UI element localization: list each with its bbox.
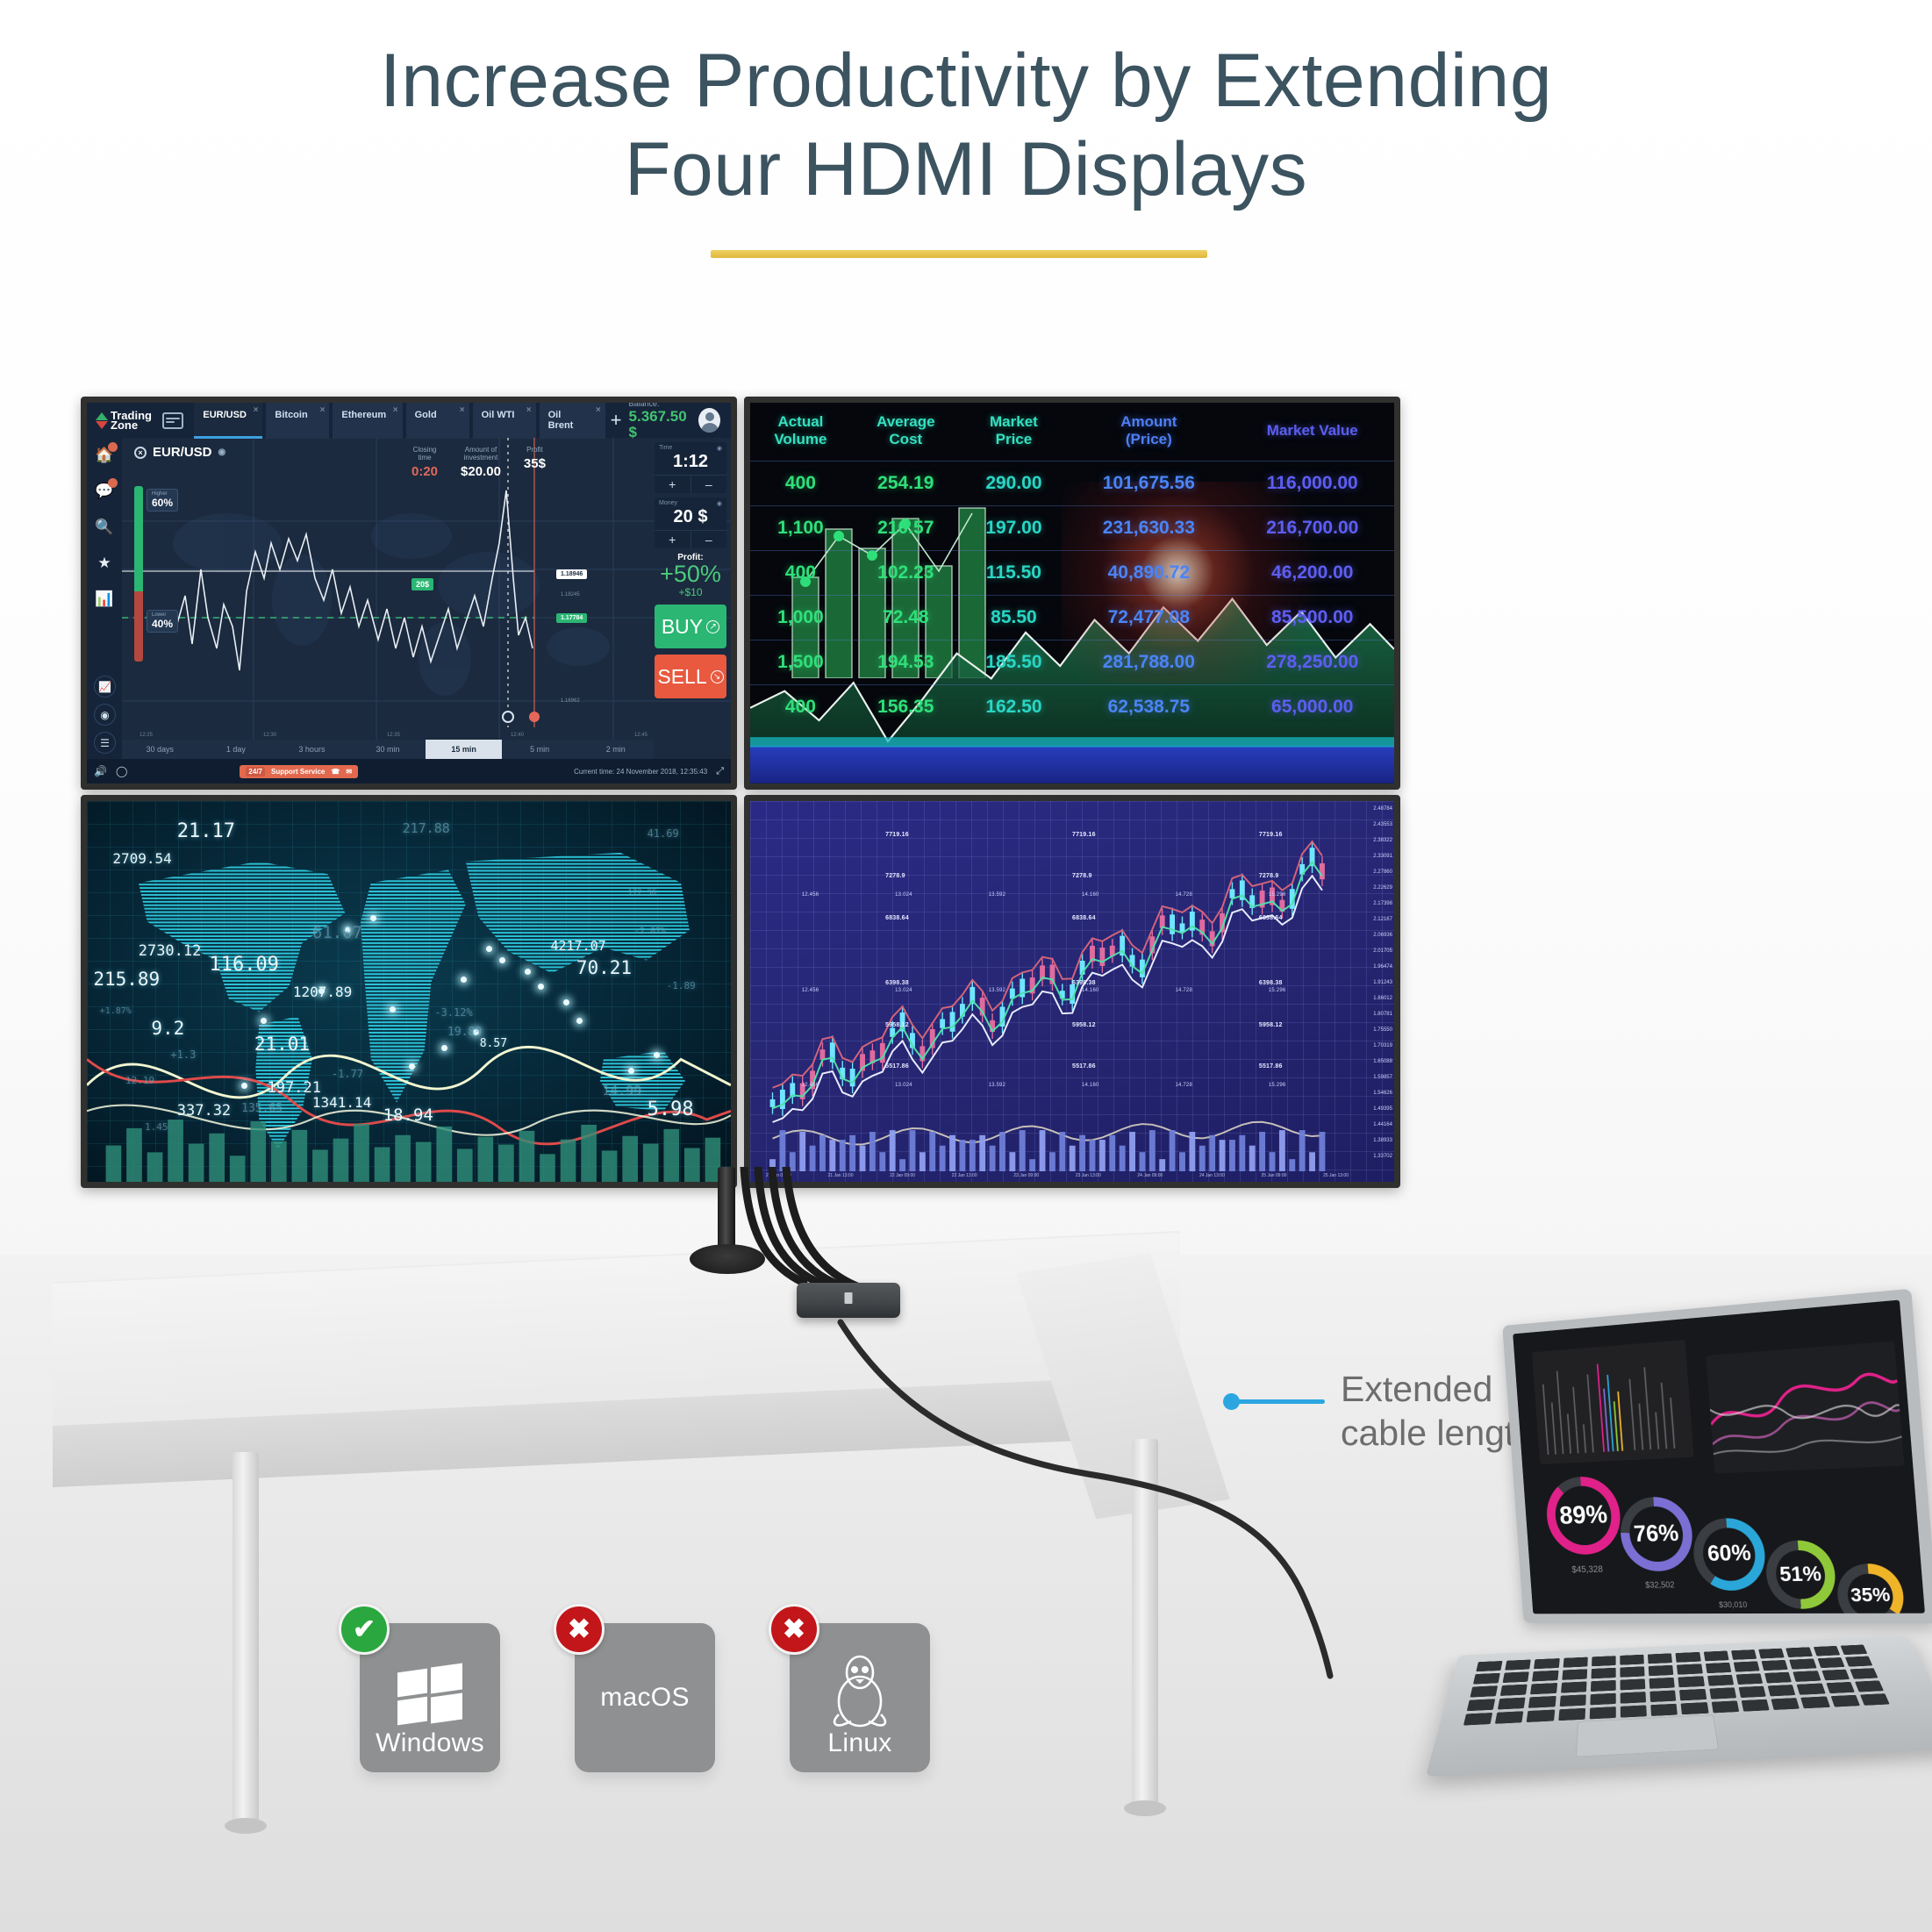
desk-foot-left bbox=[225, 1818, 267, 1834]
keyboard-key[interactable] bbox=[1676, 1652, 1701, 1663]
keyboard-key[interactable] bbox=[1855, 1680, 1884, 1692]
keyboard-key[interactable] bbox=[1621, 1678, 1646, 1690]
table-cell: 281,788.00 bbox=[1067, 640, 1230, 685]
profit-amount: +$10 bbox=[655, 586, 726, 598]
candles-volume-label: 15.296 bbox=[1269, 892, 1286, 898]
money-increase-button[interactable]: + bbox=[655, 531, 691, 548]
keyboard-key[interactable] bbox=[1534, 1658, 1559, 1669]
balance-value: 5.367.50 $ bbox=[629, 409, 692, 440]
map-value: 116.09 bbox=[209, 954, 278, 976]
table-cell: 85.50 bbox=[961, 596, 1067, 640]
close-icon[interactable]: × bbox=[393, 405, 398, 415]
table-cell: 62,538.75 bbox=[1067, 685, 1230, 730]
keyboard-key[interactable] bbox=[1650, 1690, 1677, 1702]
map-value: 337.32 bbox=[177, 1102, 231, 1120]
linux-penguin-icon bbox=[828, 1653, 891, 1728]
candles-time-tick: 25 Jan 13:00 bbox=[1323, 1173, 1349, 1178]
gauge-lower-value: 40% bbox=[152, 618, 173, 630]
profit-value: 35$ bbox=[524, 456, 546, 471]
keyboard-key[interactable] bbox=[1850, 1668, 1878, 1679]
candles-time-tick: 23 Jan 09:00 bbox=[1013, 1173, 1039, 1178]
add-tab-button[interactable]: + bbox=[611, 409, 622, 432]
keyboard-key[interactable] bbox=[1592, 1656, 1616, 1666]
table-cell: 116,000.00 bbox=[1231, 462, 1394, 506]
time-tick: 12:35 bbox=[387, 733, 400, 738]
column-actual-volume: ActualVolume bbox=[750, 403, 851, 462]
gauge-51: 51% bbox=[1764, 1540, 1837, 1609]
map-value: 70.21 bbox=[576, 957, 632, 978]
candles-axis-tick: 2.33091 bbox=[1373, 854, 1392, 859]
candles-volume-label: 13.024 bbox=[895, 988, 912, 993]
axis-price-2: 1.18245 bbox=[561, 592, 580, 597]
gauge-percent: 60% bbox=[1707, 1541, 1752, 1567]
balance-area: + Balance: 5.367.50 $ bbox=[611, 403, 726, 440]
map-dot bbox=[525, 969, 531, 975]
close-icon[interactable]: × bbox=[596, 405, 601, 415]
keyboard-key[interactable] bbox=[1505, 1659, 1531, 1670]
tab-bitcoin[interactable]: Bitcoin× bbox=[266, 403, 329, 439]
keyboard-key[interactable] bbox=[1532, 1671, 1558, 1682]
column-market-price: MarketPrice bbox=[961, 403, 1067, 462]
tab-oil-wti[interactable]: Oil WTI× bbox=[473, 403, 536, 439]
gauge-percent: 35% bbox=[1850, 1585, 1891, 1606]
sell-button[interactable]: SELL↘ bbox=[655, 655, 726, 698]
headline-line-2: Four HDMI Displays bbox=[0, 125, 1932, 214]
keyboard-key[interactable] bbox=[1758, 1649, 1785, 1659]
volume-icon[interactable]: 🔊 bbox=[94, 765, 107, 777]
time-tick: 12:40 bbox=[511, 733, 524, 738]
layout-menu-icon[interactable] bbox=[162, 412, 183, 429]
gauge-lower: Lower 40% bbox=[147, 610, 178, 633]
candles-axis-tick: 2.43553 bbox=[1373, 822, 1392, 827]
keyboard-key[interactable] bbox=[1709, 1687, 1736, 1699]
candles-time-tick: 23 Jan 13:00 bbox=[1076, 1173, 1101, 1178]
money-value: 20 $ bbox=[655, 507, 726, 530]
os-compatibility-row: ✔ Windows ✖ macOS ✖ Linux bbox=[360, 1623, 930, 1772]
candles-axis-tick: 1.75550 bbox=[1373, 1027, 1392, 1033]
candles-price-label: 5517.86 bbox=[1259, 1063, 1283, 1070]
column-amount-price: Amount(Price) bbox=[1067, 403, 1230, 462]
candles-axis-tick: 2.22629 bbox=[1373, 885, 1392, 891]
closing-time-block: Closingtime 0:20 bbox=[411, 446, 438, 479]
keyboard-key[interactable] bbox=[1801, 1696, 1830, 1708]
map-dot bbox=[563, 999, 569, 1005]
map-value: -1.89 bbox=[667, 980, 696, 991]
candles-price-label: 5958.12 bbox=[885, 1022, 909, 1028]
candles-volume-label: 13.024 bbox=[895, 1083, 912, 1088]
keyboard-key[interactable] bbox=[1498, 1698, 1526, 1710]
keyboard-key[interactable] bbox=[1826, 1682, 1855, 1693]
table-cell: 216,700.00 bbox=[1231, 506, 1394, 551]
laptop-screen: 89%$45,32876%$32,50260%$30,01051%$24,003… bbox=[1513, 1300, 1925, 1614]
keyboard-key[interactable] bbox=[1707, 1675, 1734, 1686]
keyboard-key[interactable] bbox=[1762, 1660, 1788, 1671]
buy-label: BUY bbox=[662, 615, 703, 639]
table-cell: 400 bbox=[750, 462, 851, 506]
keyboard-key[interactable] bbox=[1711, 1700, 1739, 1713]
desk-leg-left bbox=[233, 1452, 259, 1829]
time-value: 1:12 bbox=[655, 452, 726, 475]
keyboard-key[interactable] bbox=[1590, 1707, 1616, 1719]
map-dot bbox=[441, 1045, 447, 1051]
time-label: Time bbox=[659, 445, 672, 452]
timeframe-30-min[interactable]: 30 min bbox=[350, 740, 426, 759]
candles-volume-label: 12.456 bbox=[802, 1083, 819, 1088]
tab-eurusd[interactable]: EUR/USD× bbox=[194, 403, 262, 439]
candles-axis-tick: 2.06936 bbox=[1373, 933, 1392, 938]
map-value: +1.3 bbox=[170, 1048, 196, 1061]
keyboard-key[interactable] bbox=[1817, 1657, 1844, 1668]
check-icon: ✔ bbox=[339, 1604, 390, 1655]
keyboard-key[interactable] bbox=[1830, 1695, 1860, 1707]
map-dot bbox=[628, 1068, 634, 1074]
phone-icon[interactable]: ☎ bbox=[331, 768, 340, 776]
keyboard-key[interactable] bbox=[1561, 1681, 1587, 1692]
candles-volume-label: 12.456 bbox=[802, 988, 819, 993]
candles-volume-label: 14.728 bbox=[1175, 892, 1192, 898]
map-value: -3.12% bbox=[434, 1006, 472, 1019]
candles-price-label: 7719.16 bbox=[1259, 832, 1283, 838]
candles-axis-tick: 2.12167 bbox=[1373, 917, 1392, 922]
candles-price-label: 5958.12 bbox=[1259, 1022, 1283, 1028]
headline-line-1: Increase Productivity by Extending bbox=[0, 37, 1932, 125]
gauge-center: 35% bbox=[1846, 1573, 1894, 1614]
price-tag-amount: 20$ bbox=[411, 578, 433, 590]
profit-percent: +50% bbox=[655, 562, 726, 586]
candles-volume-label: 15.296 bbox=[1269, 1083, 1286, 1088]
close-icon[interactable]: × bbox=[134, 447, 147, 459]
candles-time-tick: 24 Jan 09:00 bbox=[1137, 1173, 1163, 1178]
table-cell: 101,675.56 bbox=[1067, 462, 1230, 506]
keyboard-key[interactable] bbox=[1821, 1670, 1850, 1681]
keyboard-key[interactable] bbox=[1679, 1689, 1707, 1701]
price-tag-strike: 1.17784 bbox=[556, 613, 587, 623]
timeframe-2-min[interactable]: 2 min bbox=[577, 740, 654, 759]
table-cell: 197.00 bbox=[961, 506, 1067, 551]
tab-gold[interactable]: Gold× bbox=[406, 403, 469, 439]
keyboard-key[interactable] bbox=[1563, 1657, 1587, 1668]
map-value: 9.2 bbox=[151, 1018, 184, 1039]
keyboard-key[interactable] bbox=[1527, 1710, 1555, 1722]
map-value: -2.87% bbox=[634, 927, 666, 936]
keyboard-key[interactable] bbox=[1771, 1698, 1800, 1710]
gauge-60: 60% bbox=[1692, 1517, 1768, 1591]
gauge-amount: $30,010 bbox=[1698, 1600, 1770, 1609]
keyboard-key[interactable] bbox=[1736, 1673, 1764, 1685]
keyboard-key[interactable] bbox=[1785, 1647, 1812, 1657]
gauge-amount: $45,328 bbox=[1550, 1563, 1624, 1575]
os-card-macos: ✖ macOS bbox=[575, 1623, 715, 1772]
keyboard-key[interactable] bbox=[1591, 1680, 1616, 1692]
keyboard-key[interactable] bbox=[1590, 1693, 1616, 1706]
keyboard-key[interactable] bbox=[1500, 1685, 1528, 1696]
keyboard-key[interactable] bbox=[1814, 1646, 1841, 1657]
laptop-lid: 89%$45,32876%$32,50260%$30,01051%$24,003… bbox=[1502, 1289, 1932, 1624]
table-cell: 102.23 bbox=[851, 551, 961, 596]
buy-button[interactable]: BUY↗ bbox=[655, 605, 726, 648]
keyboard-key[interactable] bbox=[1470, 1685, 1498, 1697]
chat-icon[interactable]: 💬 bbox=[94, 481, 115, 502]
table-row: 400102.23115.5040,890.7246,200.00 bbox=[750, 551, 1394, 596]
candles-axis-tick: 1.96474 bbox=[1373, 964, 1392, 970]
list-icon[interactable]: ☰ bbox=[94, 732, 116, 754]
map-value: 61.07 bbox=[312, 923, 362, 942]
table-cell: 400 bbox=[750, 685, 851, 730]
monitor-portfolio-table: ActualVolume AverageCost MarketPrice Amo… bbox=[744, 397, 1400, 790]
home-icon[interactable]: 🏠 bbox=[94, 445, 115, 466]
keyboard-key[interactable] bbox=[1706, 1663, 1732, 1673]
map-value: 8.57 bbox=[480, 1037, 507, 1050]
trading-screen: Trading Zone EUR/USD× Bitcoin× Ethereum×… bbox=[87, 403, 731, 784]
candles-axis-tick: 1.49395 bbox=[1373, 1106, 1392, 1112]
keyboard-key[interactable] bbox=[1845, 1657, 1873, 1667]
keyboard-key[interactable] bbox=[1648, 1653, 1672, 1664]
trading-toolbar: Trading Zone EUR/USD× Bitcoin× Ethereum×… bbox=[87, 403, 731, 438]
close-icon[interactable]: × bbox=[460, 405, 465, 415]
keyboard-key[interactable] bbox=[1621, 1705, 1647, 1717]
keyboard-key[interactable] bbox=[1473, 1673, 1500, 1685]
gauge-35: 35% bbox=[1835, 1563, 1907, 1614]
candles-time-tick: 25 Jan 09:00 bbox=[1262, 1173, 1287, 1178]
keyboard-key[interactable] bbox=[1503, 1671, 1529, 1683]
product-scene: Increase Productivity by Extending Four … bbox=[0, 0, 1932, 1932]
candles-axis-tick: 1.33702 bbox=[1373, 1154, 1392, 1159]
settings-icon[interactable]: ◉ bbox=[218, 447, 226, 457]
time-decrease-button[interactable]: – bbox=[691, 476, 727, 493]
time-tick: 12:30 bbox=[263, 733, 276, 738]
closing-time-value: 0:20 bbox=[411, 464, 438, 479]
desk-foot-right bbox=[1124, 1800, 1166, 1816]
laptop-trackpad[interactable] bbox=[1576, 1714, 1719, 1757]
money-label: Money bbox=[659, 500, 677, 507]
candles-volume-label: 13.592 bbox=[989, 988, 1006, 993]
avatar[interactable] bbox=[698, 408, 720, 433]
keyboard-key[interactable] bbox=[1681, 1702, 1708, 1714]
table-cell: 156.35 bbox=[851, 685, 961, 730]
keyboard-key[interactable] bbox=[1476, 1661, 1502, 1671]
keyboard-key[interactable] bbox=[1734, 1661, 1760, 1671]
time-selector[interactable]: Time◉ 1:12 +– bbox=[655, 442, 726, 493]
keyboard-key[interactable] bbox=[1651, 1704, 1678, 1716]
map-value: 21.01 bbox=[254, 1034, 310, 1055]
table-cell: 162.50 bbox=[961, 685, 1067, 730]
tab-label: Oil WTI bbox=[482, 410, 515, 420]
logo-triangles-icon bbox=[96, 412, 108, 429]
table-cell: 1,100 bbox=[750, 506, 851, 551]
map-value: 217.88 bbox=[403, 820, 450, 836]
candles-axis-tick: 1.86012 bbox=[1373, 996, 1392, 1001]
time-axis: 12:25 12:30 12:35 12:40 12:45 bbox=[140, 733, 648, 738]
candles-price-label: 7278.9 bbox=[1072, 873, 1092, 879]
investment-value: $20.00 bbox=[461, 464, 501, 479]
candles-axis-tick: 2.17398 bbox=[1373, 901, 1392, 906]
map-value: 172.36 bbox=[628, 889, 657, 898]
keyboard-key[interactable] bbox=[1649, 1678, 1675, 1689]
table-header-row: ActualVolume AverageCost MarketPrice Amo… bbox=[750, 403, 1394, 462]
map-value: 2709.54 bbox=[112, 850, 171, 867]
candles-screen: 7719.167278.96838.646398.385958.125517.8… bbox=[750, 801, 1394, 1182]
search-icon[interactable]: 🔍 bbox=[94, 517, 115, 538]
line-chart-icon[interactable]: 📈 bbox=[94, 676, 116, 698]
gauge-center: 60% bbox=[1701, 1527, 1757, 1580]
map-value: 12.19 bbox=[125, 1075, 154, 1086]
investment-block: Amount ofinvestment $20.00 bbox=[461, 446, 501, 479]
table-cell: 185.50 bbox=[961, 640, 1067, 685]
timeframe-1-day[interactable]: 1 day bbox=[198, 740, 275, 759]
current-time: Current time: 24 November 2018, 12:35:43 bbox=[574, 768, 707, 776]
candles-axis-tick: 2.01705 bbox=[1373, 948, 1392, 954]
trade-info: Closingtime 0:20 Amount ofinvestment $20… bbox=[411, 446, 546, 479]
map-value: 14.99 bbox=[602, 1083, 641, 1098]
timeframe-15-min[interactable]: 15 min bbox=[426, 740, 502, 759]
candles-axis-tick: 1.44164 bbox=[1373, 1122, 1392, 1127]
time-increase-button[interactable]: + bbox=[655, 476, 691, 493]
candles-axis-tick: 2.48784 bbox=[1373, 806, 1392, 812]
table-screen: ActualVolume AverageCost MarketPrice Amo… bbox=[750, 403, 1394, 784]
profit-block: Profit 35$ bbox=[524, 446, 546, 479]
candles-axis-tick: 1.70319 bbox=[1373, 1043, 1392, 1048]
candles-price-label: 6838.64 bbox=[1259, 915, 1283, 921]
table-cell: 231,630.33 bbox=[1067, 506, 1230, 551]
active-symbol: × EUR/USD ◉ bbox=[134, 445, 225, 460]
timeframe-selector: 30 days 1 day 3 hours 30 min 15 min 5 mi… bbox=[122, 740, 654, 759]
timeframe-5-min[interactable]: 5 min bbox=[502, 740, 578, 759]
keyboard-key[interactable] bbox=[1731, 1649, 1757, 1660]
keyboard-key[interactable] bbox=[1764, 1672, 1792, 1684]
money-selector[interactable]: Money◉ 20 $ +– bbox=[655, 497, 726, 548]
keyboard-key[interactable] bbox=[1789, 1658, 1816, 1669]
money-decrease-button[interactable]: – bbox=[691, 531, 727, 548]
page-title: Increase Productivity by Extending Four … bbox=[0, 37, 1932, 215]
gauge-percent: 51% bbox=[1778, 1562, 1822, 1586]
timeframe-3-hours[interactable]: 3 hours bbox=[274, 740, 350, 759]
column-average-cost: AverageCost bbox=[851, 403, 961, 462]
support-label: Support Service bbox=[271, 768, 325, 776]
laptop-gauges: 89%$45,32876%$32,50260%$30,01051%$24,003… bbox=[1513, 1300, 1900, 1335]
candles-price-label: 5517.86 bbox=[885, 1063, 909, 1070]
keyboard-key[interactable] bbox=[1678, 1676, 1705, 1687]
gauge-center: 51% bbox=[1774, 1549, 1827, 1599]
table-cell: 1,500 bbox=[750, 640, 851, 685]
keyboard-key[interactable] bbox=[1621, 1692, 1647, 1704]
keyboard-key[interactable] bbox=[1463, 1713, 1492, 1726]
timeframe-30-days[interactable]: 30 days bbox=[122, 740, 198, 759]
candles-price-label: 6838.64 bbox=[885, 915, 909, 921]
price-tag-current: 1.18946 bbox=[556, 569, 587, 579]
tab-ethereum[interactable]: Ethereum× bbox=[333, 403, 402, 439]
investment-label: Amount ofinvestment bbox=[461, 446, 501, 462]
candles-volume-label: 12.456 bbox=[802, 892, 819, 898]
table-cell: 194.53 bbox=[851, 640, 961, 685]
time-tick: 12:25 bbox=[140, 733, 153, 738]
candles-axis-tick: 1.80781 bbox=[1373, 1012, 1392, 1017]
record-icon[interactable]: ◯ bbox=[116, 765, 127, 777]
column-market-value: Market Value bbox=[1231, 403, 1394, 462]
candles-price-label: 6838.64 bbox=[1072, 915, 1096, 921]
support-service-button[interactable]: 24/7 Support Service ☎ ✉ bbox=[240, 765, 358, 778]
keyboard-key[interactable] bbox=[1739, 1686, 1766, 1698]
fullscreen-icon[interactable]: ⤢ bbox=[716, 766, 724, 777]
close-icon[interactable]: × bbox=[320, 405, 326, 415]
keyboard-key[interactable] bbox=[1559, 1694, 1585, 1707]
mail-icon[interactable]: ✉ bbox=[346, 768, 352, 776]
candles-time-tick: 24 Jan 13:00 bbox=[1199, 1173, 1225, 1178]
arrow-down-icon: ↘ bbox=[711, 670, 724, 683]
monitor-candlestick-chart: 7719.167278.96838.646398.385958.125517.8… bbox=[744, 795, 1400, 1188]
keyboard-key[interactable] bbox=[1649, 1665, 1674, 1676]
keyboard-key[interactable] bbox=[1793, 1671, 1821, 1682]
keyboard-key[interactable] bbox=[1528, 1696, 1556, 1708]
table-row: 400156.35162.5062,538.7565,000.00 bbox=[750, 685, 1394, 730]
portfolio-table: ActualVolume AverageCost MarketPrice Amo… bbox=[750, 403, 1394, 729]
keyboard-key[interactable] bbox=[1495, 1711, 1524, 1724]
close-icon[interactable]: × bbox=[254, 405, 259, 415]
candles-volume-label: 14.728 bbox=[1175, 1083, 1192, 1088]
candles-right-axis: 2.487842.435532.383222.330912.278602.226… bbox=[1350, 806, 1392, 1159]
keyboard-key[interactable] bbox=[1860, 1693, 1890, 1706]
close-icon[interactable]: × bbox=[526, 405, 532, 415]
monitor-world-map: 21.172709.54217.8841.69172.36-2.87%2730.… bbox=[81, 795, 737, 1188]
indicator-icon[interactable]: ◉ bbox=[94, 704, 116, 726]
candles-axis-tick: 2.38322 bbox=[1373, 838, 1392, 843]
star-icon[interactable]: ★ bbox=[94, 553, 115, 574]
table-row: 1,100210.57197.00231,630.33216,700.00 bbox=[750, 506, 1394, 551]
candles-volume-label: 14.160 bbox=[1082, 1083, 1099, 1088]
os-name-macos: macOS bbox=[600, 1683, 690, 1713]
keyboard-key[interactable] bbox=[1467, 1699, 1496, 1711]
support-tag: 24/7 bbox=[246, 767, 265, 776]
price-chart bbox=[122, 438, 731, 771]
keyboard-key[interactable] bbox=[1840, 1645, 1867, 1656]
keyboard-key[interactable] bbox=[1768, 1685, 1796, 1696]
axis-price-4: 1.16962 bbox=[561, 698, 580, 704]
keyboard-key[interactable] bbox=[1620, 1666, 1644, 1678]
candles-volume-label: 14.160 bbox=[1082, 892, 1099, 898]
map-value: 1341.14 bbox=[312, 1094, 371, 1111]
table-cell: 65,000.00 bbox=[1231, 685, 1394, 730]
help-icon[interactable]: ◉ bbox=[717, 445, 722, 452]
gauge-center: 89% bbox=[1554, 1485, 1614, 1545]
laptop-line-chart bbox=[1706, 1341, 1904, 1473]
table-body: 400254.19290.00101,675.56116,000.001,100… bbox=[750, 462, 1394, 730]
candles-volume-label: 14.160 bbox=[1082, 988, 1099, 993]
table-cell: 115.50 bbox=[961, 551, 1067, 596]
title-accent-bar bbox=[711, 250, 1207, 258]
keyboard-key[interactable] bbox=[1704, 1650, 1729, 1661]
candles-axis-tick: 1.59857 bbox=[1373, 1075, 1392, 1080]
gauge-76: 76% bbox=[1618, 1496, 1695, 1572]
os-card-linux: ✖ Linux bbox=[790, 1623, 930, 1772]
tab-label: EUR/USD bbox=[203, 410, 247, 420]
keyboard-key[interactable] bbox=[1530, 1683, 1556, 1694]
chart-tool-buttons: 📈 ◉ ☰ bbox=[94, 676, 116, 754]
laptop-keyboard bbox=[1463, 1645, 1890, 1726]
bar-chart-icon[interactable]: 📊 bbox=[94, 589, 115, 610]
keyboard-key[interactable] bbox=[1558, 1708, 1585, 1721]
keyboard-key[interactable] bbox=[1620, 1655, 1644, 1665]
keyboard-key[interactable] bbox=[1562, 1669, 1587, 1680]
candles-volume-label: 15.296 bbox=[1269, 988, 1286, 993]
gauge-89: 89% bbox=[1544, 1475, 1623, 1555]
tab-oil-brent[interactable]: Oil Brent× bbox=[540, 403, 605, 439]
keyboard-key[interactable] bbox=[1677, 1664, 1702, 1674]
map-value: 41.69 bbox=[648, 827, 679, 840]
keyboard-key[interactable] bbox=[1591, 1668, 1615, 1679]
map-value: -1.77 bbox=[332, 1068, 363, 1080]
keyboard-key[interactable] bbox=[1797, 1683, 1825, 1694]
help-icon[interactable]: ◉ bbox=[717, 500, 722, 507]
keyboard-key[interactable] bbox=[1742, 1699, 1770, 1712]
